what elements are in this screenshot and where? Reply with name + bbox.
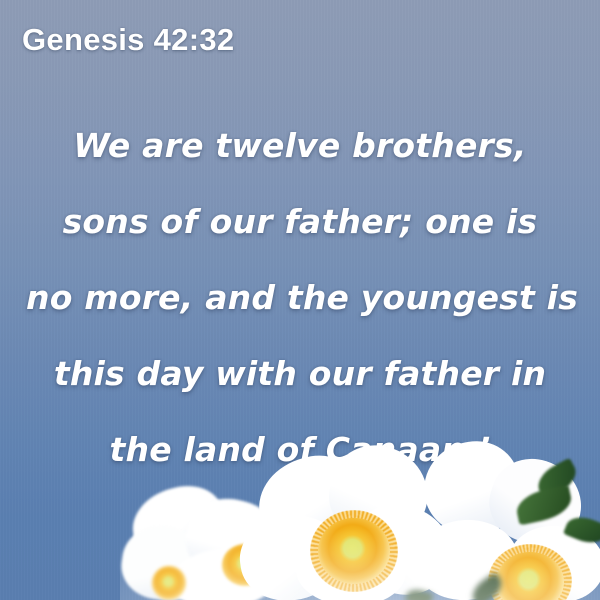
- verse-line: this day with our father in: [26, 336, 574, 412]
- flower-photo-foreground: [0, 440, 600, 600]
- verse-text-block: We are twelve brothers, sons of our fath…: [0, 108, 600, 488]
- flower-edge-haze: [120, 480, 600, 600]
- verse-line: sons of our father; one is: [26, 184, 574, 260]
- verse-line: We are twelve brothers,: [26, 108, 574, 184]
- verse-reference: Genesis 42:32: [22, 22, 234, 58]
- verse-line: no more, and the youngest is: [26, 260, 574, 336]
- verse-card: Genesis 42:32 We are twelve brothers, so…: [0, 0, 600, 600]
